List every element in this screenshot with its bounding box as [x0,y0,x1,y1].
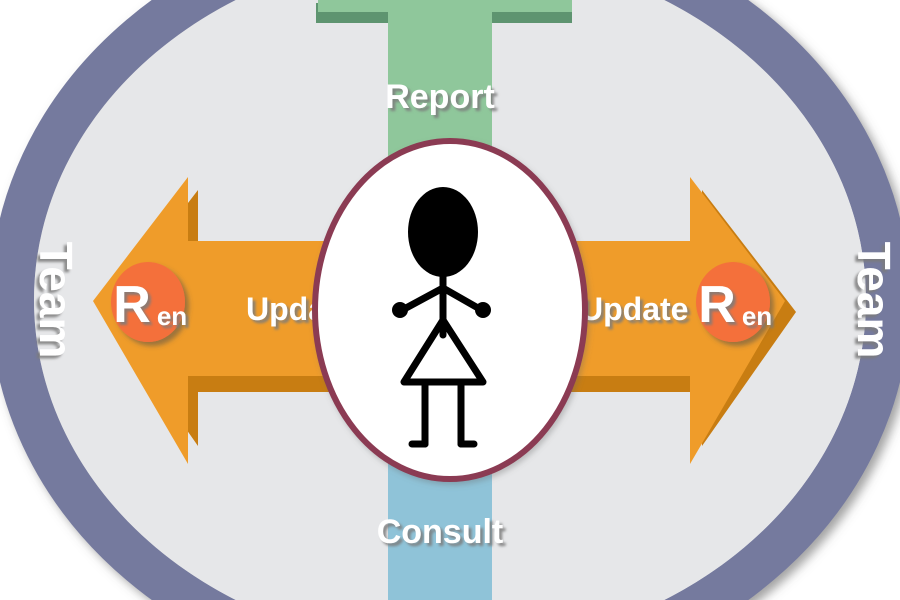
team-label-left-group: Team [30,242,82,359]
ren-badge-left-main: R [113,276,151,334]
figure-left-hand [392,302,408,318]
update-right-label: Update [580,291,688,327]
consult-label: Consult [377,513,504,551]
figure-head [408,187,478,277]
ren-badge-right-sub: en [742,301,772,331]
team-label-right: Team [848,242,900,359]
diagram-canvas: Report Consult R en Update [0,0,900,600]
diagram-svg: Report Consult R en Update [0,0,900,600]
center-person-oval[interactable] [315,141,585,479]
team-label-right-group: Team [848,242,900,359]
report-label: Report [385,78,495,116]
ren-badge-left-sub: en [157,301,187,331]
team-label-left: Team [30,242,82,359]
figure-right-hand [475,302,491,318]
ren-badge-right-main: R [698,276,736,334]
